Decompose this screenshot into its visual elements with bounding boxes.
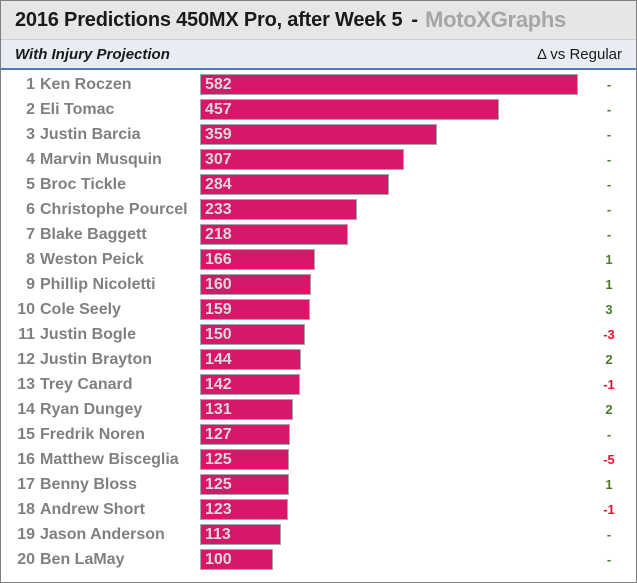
row-rank: 5 [1, 177, 35, 193]
value-bar: 113 [200, 524, 281, 545]
bar-track: 127 [200, 424, 596, 445]
row-rank: 7 [1, 227, 35, 243]
row-rider-name: Eli Tomac [40, 102, 114, 118]
row-rank: 13 [1, 377, 35, 393]
ranking-row: 9Phillip Nicoletti1601 [1, 272, 636, 297]
bar-value-label: 359 [201, 127, 232, 143]
bar-track: 159 [200, 299, 596, 320]
bar-value-label: 457 [201, 102, 232, 118]
ranking-row: 6Christophe Pourcel233- [1, 197, 636, 222]
prediction-chart-panel: 2016 Predictions 450MX Pro, after Week 5… [0, 0, 637, 583]
bar-value-label: 166 [201, 252, 232, 268]
ranking-row: 15Fredrik Noren127- [1, 422, 636, 447]
bar-track: 125 [200, 474, 596, 495]
ranking-row: 16Matthew Bisceglia125-5 [1, 447, 636, 472]
ranking-row: 12Justin Brayton1442 [1, 347, 636, 372]
value-bar: 160 [200, 274, 311, 295]
bar-track: 160 [200, 274, 596, 295]
delta-value: - [592, 172, 626, 197]
row-rank: 3 [1, 127, 35, 143]
delta-value: - [592, 72, 626, 97]
ranking-row: 18Andrew Short123-1 [1, 497, 636, 522]
value-bar: 100 [200, 549, 273, 570]
delta-value: 1 [592, 247, 626, 272]
value-bar: 150 [200, 324, 305, 345]
bar-value-label: 144 [201, 352, 232, 368]
ranking-row: 3Justin Barcia359- [1, 122, 636, 147]
value-bar: 123 [200, 499, 288, 520]
value-bar: 125 [200, 449, 289, 470]
delta-value: - [592, 522, 626, 547]
value-bar: 144 [200, 349, 301, 370]
row-rider-name: Christophe Pourcel [40, 202, 188, 218]
ranking-row: 14Ryan Dungey1312 [1, 397, 636, 422]
bar-track: 131 [200, 399, 596, 420]
delta-value: -1 [592, 372, 626, 397]
delta-value: 1 [592, 272, 626, 297]
value-bar: 159 [200, 299, 310, 320]
bar-track: 113 [200, 524, 596, 545]
bar-track: 284 [200, 174, 596, 195]
value-bar: 233 [200, 199, 357, 220]
row-rider-name: Blake Baggett [40, 227, 147, 243]
bar-value-label: 113 [201, 527, 231, 543]
bar-track: 144 [200, 349, 596, 370]
ranking-rows: 1Ken Roczen582-2Eli Tomac457-3Justin Bar… [1, 70, 636, 572]
row-rider-name: Matthew Bisceglia [40, 452, 179, 468]
bar-track: 359 [200, 124, 596, 145]
chart-subheader: With Injury Projection Δ vs Regular [1, 40, 636, 70]
value-bar: 582 [200, 74, 578, 95]
value-bar: 359 [200, 124, 437, 145]
ranking-row: 17Benny Bloss1251 [1, 472, 636, 497]
row-rank: 8 [1, 252, 35, 268]
subtitle-label: With Injury Projection [15, 46, 170, 63]
row-rank: 4 [1, 152, 35, 168]
row-rank: 10 [1, 302, 35, 318]
delta-value: - [592, 222, 626, 247]
delta-value: - [592, 122, 626, 147]
bar-track: 123 [200, 499, 596, 520]
row-rider-name: Jason Anderson [40, 527, 165, 543]
ranking-row: 20Ben LaMay100- [1, 547, 636, 572]
title-separator: - [411, 9, 418, 32]
bar-track: 100 [200, 549, 596, 570]
ranking-row: 13Trey Canard142-1 [1, 372, 636, 397]
bar-value-label: 150 [201, 327, 232, 343]
row-rank: 6 [1, 202, 35, 218]
value-bar: 127 [200, 424, 290, 445]
bar-value-label: 125 [201, 452, 232, 468]
row-rank: 12 [1, 352, 35, 368]
ranking-row: 2Eli Tomac457- [1, 97, 636, 122]
row-rank: 1 [1, 77, 35, 93]
bar-value-label: 284 [201, 177, 232, 193]
bar-value-label: 218 [201, 227, 232, 243]
row-rider-name: Cole Seely [40, 302, 121, 318]
row-rider-name: Ben LaMay [40, 552, 124, 568]
row-rider-name: Broc Tickle [40, 177, 126, 193]
delta-value: 2 [592, 397, 626, 422]
value-bar: 166 [200, 249, 315, 270]
delta-value: - [592, 197, 626, 222]
row-rank: 11 [1, 327, 35, 343]
delta-value: - [592, 547, 626, 572]
row-rank: 18 [1, 502, 35, 518]
row-rider-name: Justin Barcia [40, 127, 140, 143]
bar-track: 457 [200, 99, 596, 120]
row-rider-name: Fredrik Noren [40, 427, 145, 443]
delta-value: 3 [592, 297, 626, 322]
value-bar: 457 [200, 99, 499, 120]
ranking-row: 1Ken Roczen582- [1, 72, 636, 97]
bar-track: 166 [200, 249, 596, 270]
row-rank: 2 [1, 102, 35, 118]
row-rank: 16 [1, 452, 35, 468]
value-bar: 131 [200, 399, 293, 420]
row-rider-name: Ken Roczen [40, 77, 132, 93]
delta-value: 2 [592, 347, 626, 372]
page-title: 2016 Predictions 450MX Pro, after Week 5 [15, 9, 402, 32]
row-rider-name: Andrew Short [40, 502, 145, 518]
row-rider-name: Trey Canard [40, 377, 132, 393]
ranking-row: 8Weston Peick1661 [1, 247, 636, 272]
bar-value-label: 100 [201, 552, 232, 568]
bar-track: 150 [200, 324, 596, 345]
ranking-row: 7Blake Baggett218- [1, 222, 636, 247]
bar-value-label: 127 [201, 427, 232, 443]
delta-column-header: Δ vs Regular [537, 46, 624, 63]
bar-track: 582 [200, 74, 596, 95]
bar-value-label: 131 [201, 402, 232, 418]
row-rider-name: Justin Bogle [40, 327, 136, 343]
row-rider-name: Ryan Dungey [40, 402, 142, 418]
delta-value: 1 [592, 472, 626, 497]
delta-value: - [592, 147, 626, 172]
bar-track: 218 [200, 224, 596, 245]
ranking-row: 10Cole Seely1593 [1, 297, 636, 322]
value-bar: 307 [200, 149, 404, 170]
row-rank: 15 [1, 427, 35, 443]
bar-track: 142 [200, 374, 596, 395]
delta-value: -5 [592, 447, 626, 472]
delta-value: - [592, 97, 626, 122]
row-rider-name: Phillip Nicoletti [40, 277, 156, 293]
bar-value-label: 160 [201, 277, 232, 293]
bar-track: 233 [200, 199, 596, 220]
chart-header: 2016 Predictions 450MX Pro, after Week 5… [1, 1, 636, 40]
row-rank: 14 [1, 402, 35, 418]
row-rider-name: Benny Bloss [40, 477, 137, 493]
bar-value-label: 159 [201, 302, 232, 318]
bar-track: 307 [200, 149, 596, 170]
bar-value-label: 582 [201, 77, 232, 93]
delta-value: -3 [592, 322, 626, 347]
row-rider-name: Marvin Musquin [40, 152, 162, 168]
value-bar: 218 [200, 224, 348, 245]
bar-value-label: 125 [201, 477, 232, 493]
value-bar: 125 [200, 474, 289, 495]
bar-value-label: 307 [201, 152, 232, 168]
row-rank: 19 [1, 527, 35, 543]
ranking-row: 4Marvin Musquin307- [1, 147, 636, 172]
ranking-row: 19Jason Anderson113- [1, 522, 636, 547]
row-rider-name: Justin Brayton [40, 352, 152, 368]
delta-value: - [592, 422, 626, 447]
row-rank: 17 [1, 477, 35, 493]
delta-value: -1 [592, 497, 626, 522]
ranking-row: 5Broc Tickle284- [1, 172, 636, 197]
value-bar: 284 [200, 174, 389, 195]
ranking-row: 11Justin Bogle150-3 [1, 322, 636, 347]
value-bar: 142 [200, 374, 300, 395]
bar-value-label: 233 [201, 202, 232, 218]
bar-value-label: 123 [201, 502, 232, 518]
row-rank: 20 [1, 552, 35, 568]
row-rider-name: Weston Peick [40, 252, 144, 268]
brand-logo-text: MotoXGraphs [425, 7, 566, 33]
bar-track: 125 [200, 449, 596, 470]
bar-value-label: 142 [201, 377, 232, 393]
row-rank: 9 [1, 277, 35, 293]
